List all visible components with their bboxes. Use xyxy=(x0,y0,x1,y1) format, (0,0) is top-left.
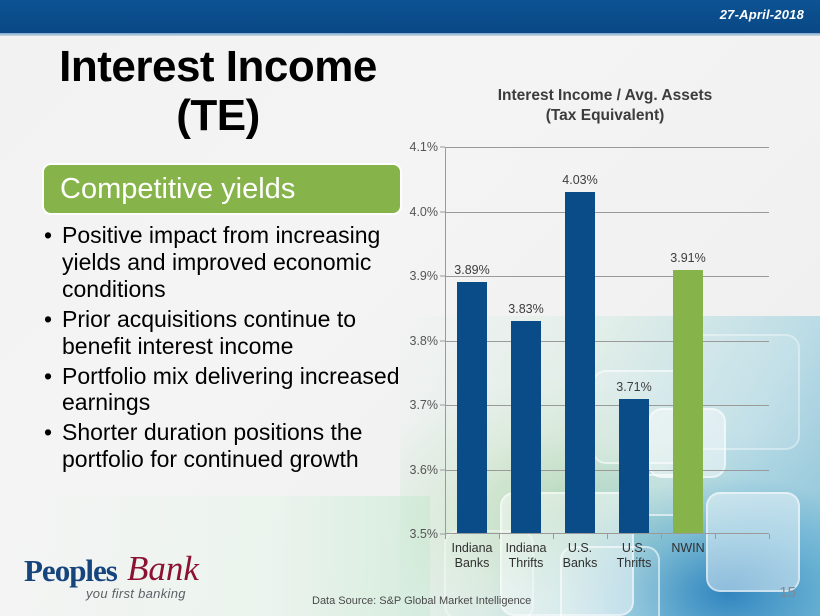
bar-value-label: 3.83% xyxy=(508,302,543,316)
page-title-line2: (TE) xyxy=(18,91,418,140)
chart-bar xyxy=(673,270,703,533)
page-title-line1: Interest Income xyxy=(18,42,418,91)
gridline xyxy=(445,341,769,342)
brand-logo: Peoples Bank you first banking xyxy=(24,553,244,605)
x-axis-tick-label-line: Thrifts xyxy=(505,556,546,571)
y-axis-tick-label: 3.9% xyxy=(410,269,439,283)
bar-value-label: 3.89% xyxy=(454,263,489,277)
bullet-marker-icon: • xyxy=(44,363,62,390)
x-axis-tick-label: U.S.Thrifts xyxy=(617,541,652,571)
gridline xyxy=(445,405,769,406)
page-number: 15 xyxy=(779,584,796,601)
x-axis-tick-label-line: U.S. xyxy=(617,541,652,556)
header-bar xyxy=(0,0,820,33)
x-axis-tick-label: NWIN xyxy=(671,541,704,556)
x-axis-tick-mark xyxy=(499,534,500,539)
x-axis-tick-label: IndianaBanks xyxy=(451,541,492,571)
x-axis-tick-mark xyxy=(715,534,716,539)
y-axis-tick-mark xyxy=(440,405,445,406)
chart-title: Interest Income / Avg. Assets (Tax Equiv… xyxy=(430,86,780,126)
bar-value-label: 3.91% xyxy=(670,251,705,265)
y-axis-tick-label: 3.8% xyxy=(410,334,439,348)
list-item: • Shorter duration positions the portfol… xyxy=(44,419,404,473)
logo-tagline: you first banking xyxy=(86,586,186,601)
x-axis-tick-mark xyxy=(607,534,608,539)
bullet-text: Portfolio mix delivering increased earni… xyxy=(62,363,404,417)
chart-title-line1: Interest Income / Avg. Assets xyxy=(430,86,780,106)
bar-value-label: 3.71% xyxy=(616,380,651,394)
gridline xyxy=(445,147,769,148)
bullet-text: Positive impact from increasing yields a… xyxy=(62,222,404,303)
x-axis-tick-mark xyxy=(769,534,770,539)
x-axis-tick-label-line: Indiana xyxy=(451,541,492,556)
x-axis-tick-label-line: Indiana xyxy=(505,541,546,556)
y-axis-tick-mark xyxy=(440,276,445,277)
y-axis-tick-mark xyxy=(440,147,445,148)
x-axis-tick-mark xyxy=(661,534,662,539)
chart-container: Interest Income / Avg. Assets (Tax Equiv… xyxy=(404,86,804,566)
y-axis-tick-mark xyxy=(440,340,445,341)
highlight-banner: Competitive yields xyxy=(42,163,402,215)
chart-bar xyxy=(511,321,541,533)
y-axis-tick-label: 4.0% xyxy=(410,205,439,219)
chart-bar xyxy=(619,399,649,533)
chart-plot-area: 3.5%3.6%3.7%3.8%3.9%4.0%4.1%3.89%Indiana… xyxy=(445,147,769,534)
chart-bar xyxy=(565,192,595,533)
x-axis-tick-label-line: Banks xyxy=(451,556,492,571)
y-axis-tick-label: 3.7% xyxy=(410,398,439,412)
y-axis-tick-label: 3.5% xyxy=(410,527,439,541)
header-rule xyxy=(0,33,820,36)
x-axis-tick-label: IndianaThrifts xyxy=(505,541,546,571)
logo-word-peoples: Peoples xyxy=(24,553,117,589)
x-axis-tick-label: U.S.Banks xyxy=(563,541,598,571)
gridline xyxy=(445,276,769,277)
slide-canvas: 27-April-2018 Interest Income (TE) Compe… xyxy=(0,0,820,616)
x-axis-tick-label-line: Thrifts xyxy=(617,556,652,571)
bullet-text: Prior acquisitions continue to benefit i… xyxy=(62,306,404,360)
header-date: 27-April-2018 xyxy=(720,7,804,22)
y-axis-tick-label: 3.6% xyxy=(410,463,439,477)
list-item: • Prior acquisitions continue to benefit… xyxy=(44,306,404,360)
bullet-marker-icon: • xyxy=(44,222,62,249)
bar-value-label: 4.03% xyxy=(562,173,597,187)
y-axis-tick-mark xyxy=(440,469,445,470)
list-item: • Positive impact from increasing yields… xyxy=(44,222,404,303)
x-axis-tick-label-line: Banks xyxy=(563,556,598,571)
gridline xyxy=(445,470,769,471)
page-title: Interest Income (TE) xyxy=(18,42,418,141)
bullet-list: • Positive impact from increasing yields… xyxy=(44,222,404,476)
logo-word-bank: Bank xyxy=(127,549,199,589)
bullet-marker-icon: • xyxy=(44,306,62,333)
x-axis-tick-mark xyxy=(553,534,554,539)
highlight-banner-label: Competitive yields xyxy=(60,175,295,204)
list-item: • Portfolio mix delivering increased ear… xyxy=(44,363,404,417)
y-axis-tick-label: 4.1% xyxy=(410,140,439,154)
x-axis-tick-label-line: NWIN xyxy=(671,541,704,556)
chart-title-line2: (Tax Equivalent) xyxy=(430,106,780,126)
bullet-text: Shorter duration positions the portfolio… xyxy=(62,419,404,473)
y-axis-tick-mark xyxy=(440,211,445,212)
x-axis-tick-mark xyxy=(445,534,446,539)
x-axis-tick-label-line: U.S. xyxy=(563,541,598,556)
bullet-marker-icon: • xyxy=(44,419,62,446)
chart-bar xyxy=(457,282,487,533)
data-source-note: Data Source: S&P Global Market Intellige… xyxy=(312,595,531,607)
gridline xyxy=(445,212,769,213)
